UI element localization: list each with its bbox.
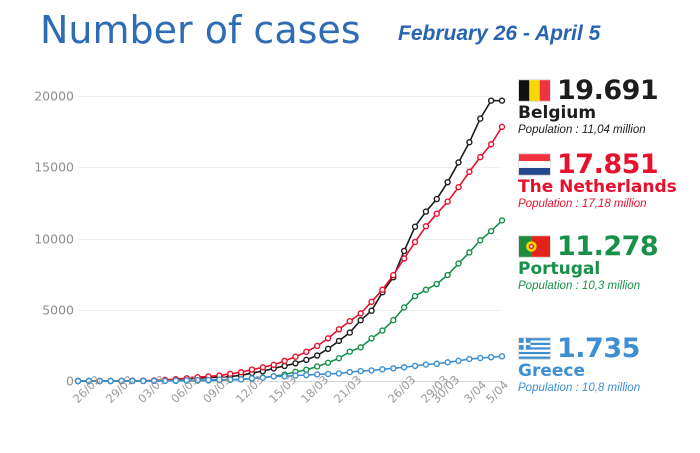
series-the-netherlands <box>76 124 505 383</box>
chart-series-canvas <box>0 68 512 398</box>
data-point-marker <box>249 367 254 372</box>
data-point-marker <box>423 287 428 292</box>
data-point-marker <box>173 378 178 383</box>
data-point-marker <box>423 209 428 214</box>
data-point-marker <box>478 116 483 121</box>
legend-entry-header: 1.735 <box>518 334 700 362</box>
data-point-marker <box>336 356 341 361</box>
data-point-marker <box>413 294 418 299</box>
data-point-marker <box>478 238 483 243</box>
data-point-marker <box>239 370 244 375</box>
data-point-marker <box>304 367 309 372</box>
data-point-marker <box>489 142 494 147</box>
data-point-marker <box>76 379 81 384</box>
data-point-marker <box>413 224 418 229</box>
data-point-marker <box>108 378 113 383</box>
legend-entry-portugal[interactable]: 11.278PortugalPopulation : 10,3 million <box>518 232 700 292</box>
data-point-marker <box>228 371 233 376</box>
data-point-marker <box>326 360 331 365</box>
data-point-marker <box>413 363 418 368</box>
date-range-label: February 26 - April 5 <box>398 22 600 46</box>
chart-header: Number of cases February 26 - April 5 <box>0 0 700 68</box>
legend-entry-greece[interactable]: 1.735GreecePopulation : 10,8 million <box>518 334 700 394</box>
data-point-marker <box>402 248 407 253</box>
series-line <box>78 220 502 381</box>
data-point-marker <box>369 299 374 304</box>
data-point-marker <box>434 197 439 202</box>
data-point-marker <box>445 360 450 365</box>
legend-case-count: 1.735 <box>557 335 640 362</box>
legend-case-count: 17.851 <box>557 151 658 178</box>
data-point-marker <box>358 318 363 323</box>
portugal-flag-icon <box>518 235 551 258</box>
legend-population-label: Population : 17,18 million <box>518 198 700 211</box>
legend-entry-the-netherlands[interactable]: 17.851The NetherlandsPopulation : 17,18 … <box>518 150 700 210</box>
data-point-marker <box>391 273 396 278</box>
legend-population-label: Population : 10,8 million <box>518 382 700 395</box>
data-point-marker <box>239 377 244 382</box>
data-point-marker <box>347 349 352 354</box>
data-point-marker <box>402 365 407 370</box>
data-point-marker <box>423 362 428 367</box>
series-belgium <box>76 98 505 383</box>
data-point-marker <box>489 98 494 103</box>
data-point-marker <box>478 356 483 361</box>
data-point-marker <box>315 353 320 358</box>
data-point-marker <box>326 371 331 376</box>
legend-entry-header: 11.278 <box>518 232 700 260</box>
belgium-flag-icon <box>518 79 551 102</box>
data-point-marker <box>206 377 211 382</box>
data-point-marker <box>326 336 331 341</box>
data-point-marker <box>304 357 309 362</box>
series-line <box>78 127 502 381</box>
data-point-marker <box>456 261 461 266</box>
data-point-marker <box>369 336 374 341</box>
data-point-marker <box>369 368 374 373</box>
data-point-marker <box>434 211 439 216</box>
data-point-marker <box>336 327 341 332</box>
data-point-marker <box>467 250 472 255</box>
data-point-marker <box>293 354 298 359</box>
data-point-marker <box>402 256 407 261</box>
data-point-marker <box>315 343 320 348</box>
legend-country-name: Greece <box>518 363 700 381</box>
data-point-marker <box>489 355 494 360</box>
greece-flag-icon <box>518 337 551 360</box>
legend-case-count: 11.278 <box>557 233 658 260</box>
legend-country-name: Portugal <box>518 261 700 279</box>
data-point-marker <box>271 374 276 379</box>
data-point-marker <box>445 273 450 278</box>
legend-country-name: The Netherlands <box>518 179 700 197</box>
data-point-marker <box>500 218 505 223</box>
data-point-marker <box>326 346 331 351</box>
x-axis: 26/0229/0203/0306/0309/0312/0315/0318/03… <box>0 394 512 453</box>
chart-plot-area: 05000100001500020000 <box>0 68 512 398</box>
data-point-marker <box>336 371 341 376</box>
data-point-marker <box>445 180 450 185</box>
data-point-marker <box>500 354 505 359</box>
data-point-marker <box>456 185 461 190</box>
data-point-marker <box>500 124 505 129</box>
data-point-marker <box>141 378 146 383</box>
data-point-marker <box>347 319 352 324</box>
data-point-marker <box>282 358 287 363</box>
data-point-marker <box>402 305 407 310</box>
data-point-marker <box>380 367 385 372</box>
data-point-marker <box>413 240 418 245</box>
data-point-marker <box>271 362 276 367</box>
data-point-marker <box>369 308 374 313</box>
data-point-marker <box>358 369 363 374</box>
data-point-marker <box>391 366 396 371</box>
legend-entry-header: 19.691 <box>518 76 700 104</box>
data-point-marker <box>456 358 461 363</box>
data-point-marker <box>467 140 472 145</box>
data-point-marker <box>434 361 439 366</box>
data-point-marker <box>456 160 461 165</box>
netherlands-flag-icon <box>518 153 551 176</box>
legend-population-label: Population : 10,3 million <box>518 280 700 293</box>
data-point-marker <box>380 287 385 292</box>
data-point-marker <box>380 328 385 333</box>
data-point-marker <box>478 155 483 160</box>
data-point-marker <box>391 318 396 323</box>
legend-entry-belgium[interactable]: 19.691BelgiumPopulation : 11,04 million <box>518 76 700 136</box>
data-point-marker <box>423 224 428 229</box>
data-point-marker <box>260 365 265 370</box>
data-point-marker <box>500 98 505 103</box>
data-point-marker <box>445 199 450 204</box>
data-point-marker <box>282 363 287 368</box>
legend-population-label: Population : 11,04 million <box>518 124 700 137</box>
data-point-marker <box>347 330 352 335</box>
data-point-marker <box>467 357 472 362</box>
country-legend-panel: 19.691BelgiumPopulation : 11,04 million1… <box>512 72 700 402</box>
data-point-marker <box>358 345 363 350</box>
series-line <box>78 101 502 381</box>
data-point-marker <box>358 311 363 316</box>
data-point-marker <box>304 373 309 378</box>
data-point-marker <box>293 361 298 366</box>
legend-country-name: Belgium <box>518 105 700 123</box>
data-point-marker <box>434 282 439 287</box>
data-point-marker <box>489 229 494 234</box>
legend-case-count: 19.691 <box>557 77 658 104</box>
data-point-marker <box>467 169 472 174</box>
data-point-marker <box>304 349 309 354</box>
data-point-marker <box>336 338 341 343</box>
legend-entry-header: 17.851 <box>518 150 700 178</box>
data-point-marker <box>315 364 320 369</box>
page-title: Number of cases <box>40 8 361 52</box>
